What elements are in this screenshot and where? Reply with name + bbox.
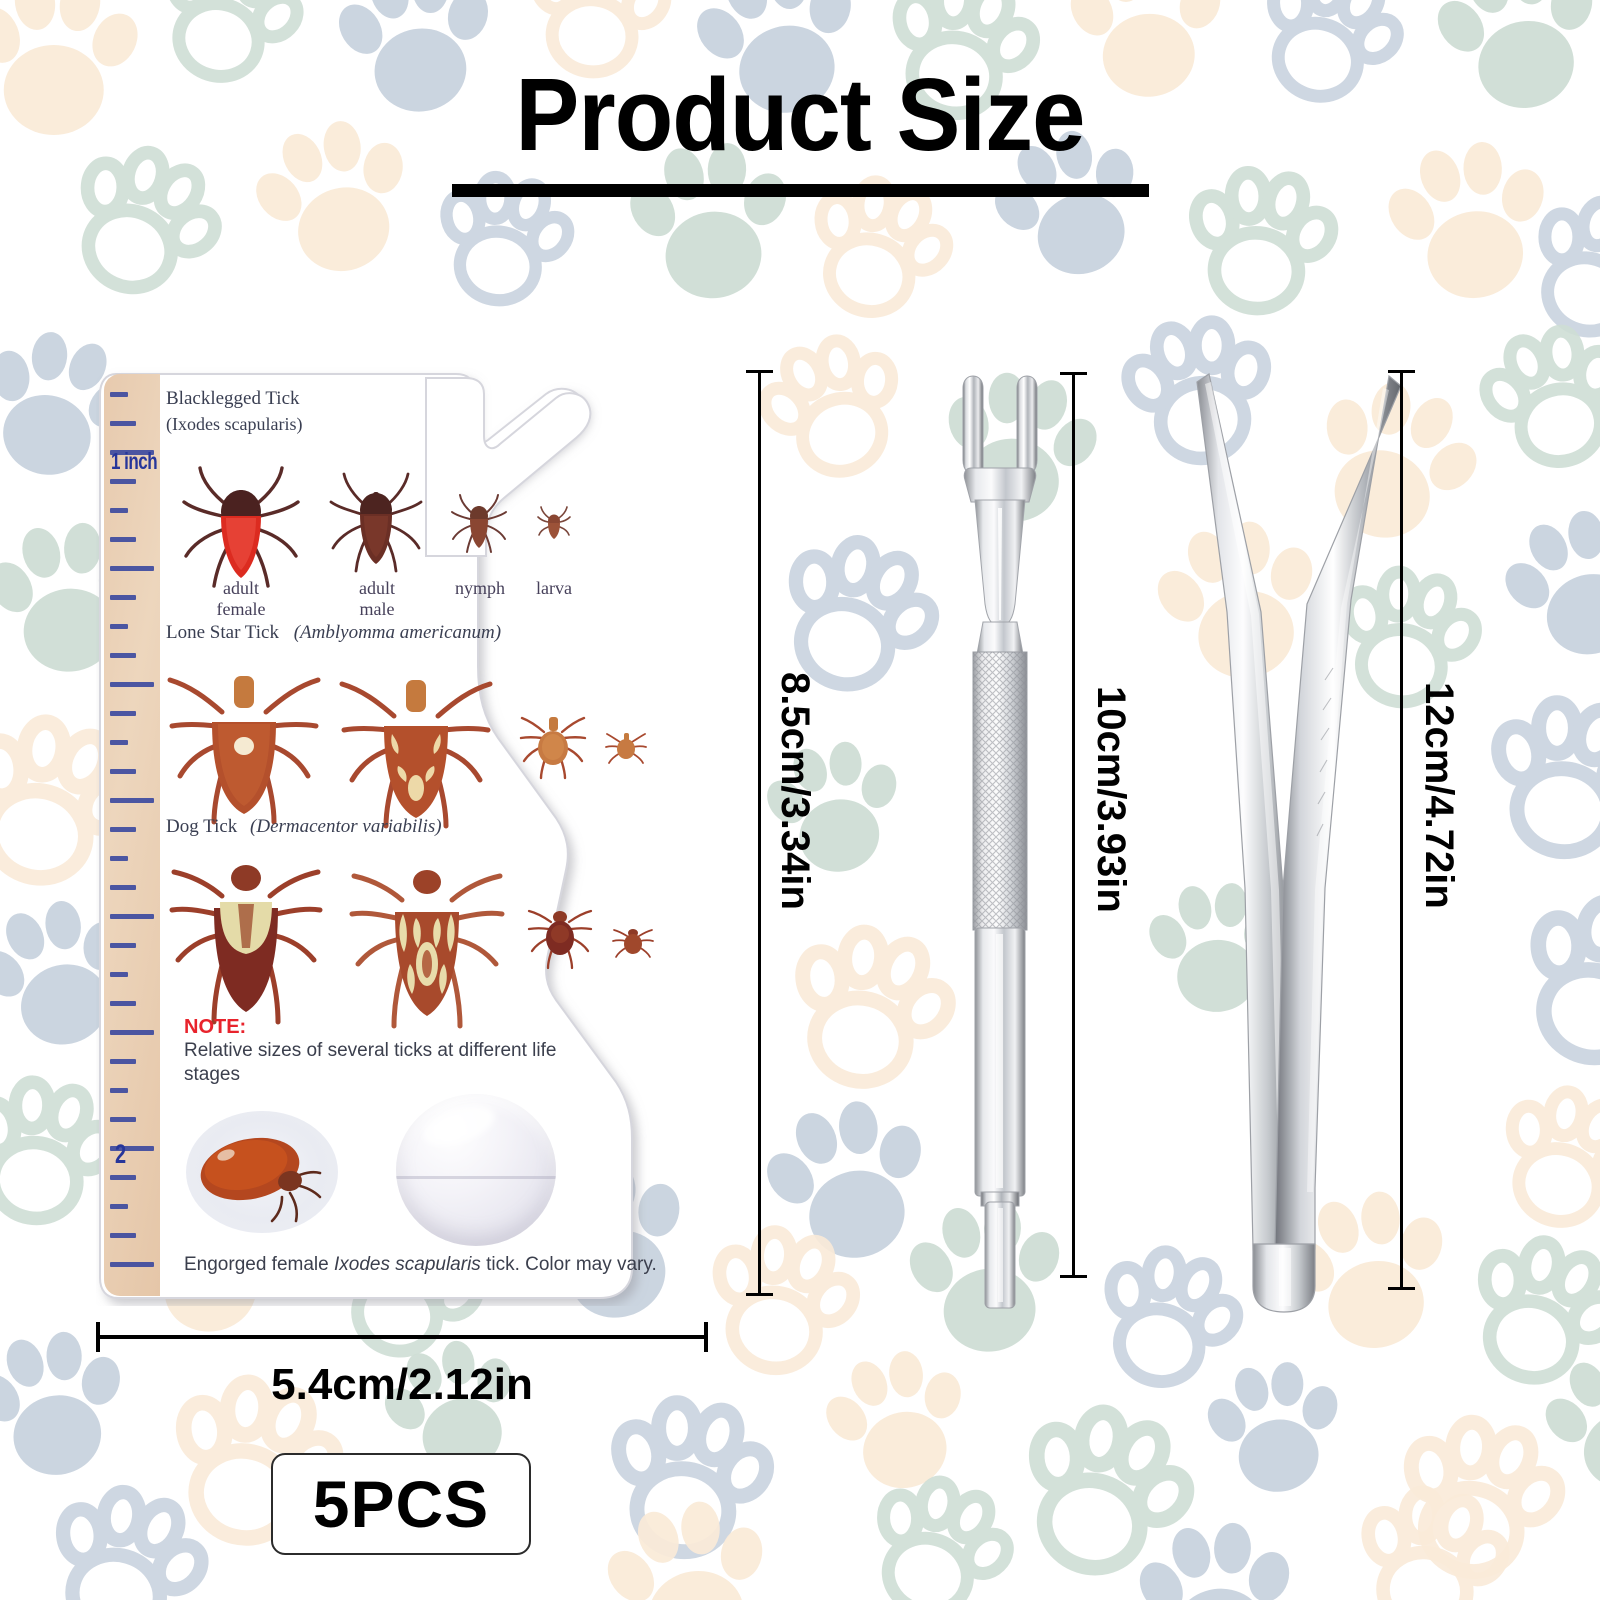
engorged-tick-photo [186,1111,338,1233]
tick-blacklegged-larva [536,504,572,542]
tick-dogtick-nymph [524,898,596,970]
dimension-label-remover-height: 10cm/3.93in [1088,686,1133,913]
ruler-tick [110,827,136,832]
lens-band [396,1176,556,1179]
ruler-tick [110,740,128,745]
dimension-label-card-width: 5.4cm/2.12in [96,1360,708,1410]
tick-identification-card: 1 inch 2 Blacklegged Tick (Ixodes scapul… [96,366,721,1306]
ruler-tick [110,1233,136,1238]
lens-glint [418,1099,498,1154]
dimension-label-card-height: 8.5cm/3.34in [772,672,817,910]
tick-lonestar-larva [604,726,648,770]
paw-print-icon [1469,689,1600,884]
section-scientific-blacklegged: (Ixodes scapularis) [166,414,302,435]
tick-lonestar-adult-male [338,660,496,828]
stage-label-larva: larva [506,578,602,599]
ruler-tick [110,972,128,977]
dimension-label-tweezers-height: 12cm/4.72in [1416,682,1461,909]
paw-print-icon [1485,875,1600,1106]
tick-blacklegged-nymph [448,488,510,554]
paw-print-icon [1477,487,1600,698]
quantity-badge: 5PCS [271,1453,531,1555]
ruler-tick [110,943,136,948]
ruler-tick [110,566,154,571]
ruler-tick [110,1088,128,1093]
ruler-tick [110,798,154,803]
title-underline [452,184,1149,197]
note-body: Relative sizes of several ticks at diffe… [184,1039,614,1088]
note-heading: NOTE: [184,1016,614,1038]
dimension-line-tweezers-height [1388,370,1415,1290]
ruler-tick [110,1117,136,1122]
tick-dogtick-larva [612,922,654,964]
ruler-tick [110,711,136,716]
ruler-tick [110,653,136,658]
ruler-label-1inch: 1 inch [111,449,157,476]
ruler-tick [110,1001,136,1006]
ruler-tick [110,1204,128,1209]
ruler-tick [110,1262,154,1267]
ruler-tick [110,1175,136,1180]
magnifier-lens-photo [396,1094,556,1246]
tick-blacklegged-adult-male [324,462,428,574]
photo-caption: Engorged female Ixodes scapularis tick. … [184,1254,704,1276]
ruler-tick [110,624,128,629]
ruler-tick [110,885,136,890]
ruler-tick [110,1059,136,1064]
ruler-tick [110,508,128,513]
dimension-line-remover-height [1060,372,1087,1278]
tick-lonestar-adult-female [164,654,324,826]
ruler-tick [110,914,154,919]
note-block: NOTE: Relative sizes of several ticks at… [184,1016,614,1088]
product-size-infographic: Product Size 1 inch 2 [0,0,1600,1600]
page-title: Product Size [515,62,1084,167]
page-title-block: Product Size [0,62,1600,197]
ruler-tick [110,856,128,861]
paw-print-icon [1188,1348,1362,1522]
tick-lonestar-nymph [516,704,590,780]
ruler-strip: 1 inch 2 [104,374,160,1296]
ruler-tick [110,392,128,397]
section-heading-lonestar: Lone Star Tick (Amblyomma americanum) [166,622,501,644]
dimension-line-card-height [746,370,773,1296]
ruler-label-2: 2 [115,1140,126,1171]
tick-dogtick-adult-male [346,852,508,1030]
section-heading-blacklegged: Blacklegged Tick [166,388,300,410]
stage-label-adult-male: adult male [322,578,432,619]
quantity-badge-label: 5PCS [313,1466,489,1542]
ruler-tick [110,682,154,687]
ruler-tick [110,421,136,426]
tick-blacklegged-adult-female [176,454,306,589]
ruler-tick [110,1030,154,1035]
ruler-tick [110,479,136,484]
stage-label-adult-female: adult female [168,578,314,619]
ruler-tick [110,769,136,774]
ruler-tick [110,595,136,600]
dimension-line-card-width [96,1322,708,1352]
ruler-tick [110,537,136,542]
tick-dogtick-adult-female [166,846,326,1026]
section-heading-dogtick: Dog Tick (Dermacentor variabilis) [166,816,442,838]
